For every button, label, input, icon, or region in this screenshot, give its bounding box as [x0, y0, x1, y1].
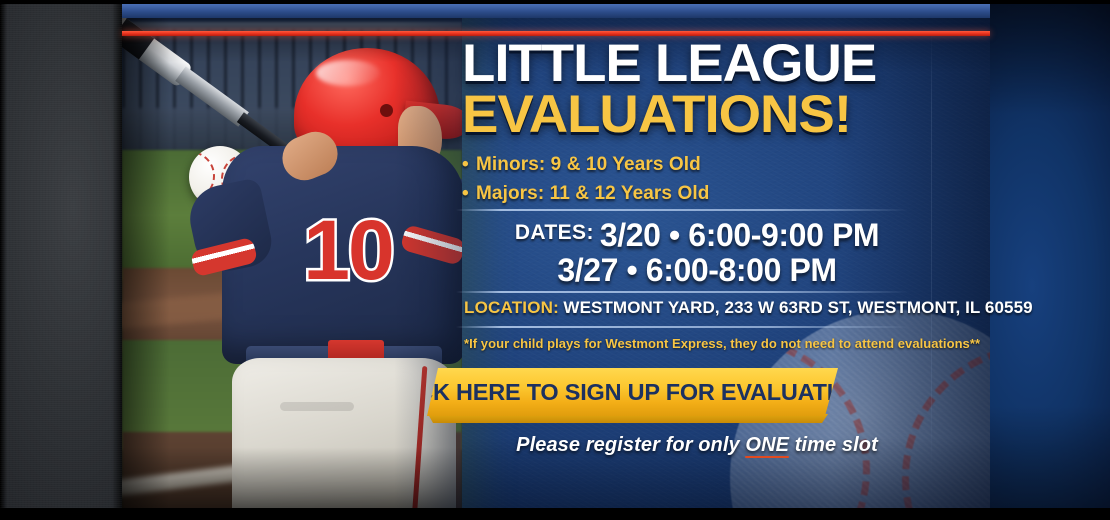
- top-blue-bar: [122, 4, 990, 18]
- list-item: •Minors: 9 & 10 Years Old: [462, 150, 942, 179]
- divider-below-location: [456, 326, 908, 328]
- list-item-label: Majors: 11 & 12 Years Old: [476, 183, 709, 204]
- dates-value-1: 3/20 • 6:00-9:00 PM: [600, 217, 879, 253]
- left-gutter-inner-edge: [112, 0, 122, 520]
- banner-content: LITTLE LEAGUE EVALUATIONS! •Minors: 9 & …: [462, 0, 1002, 520]
- bullet-dot-icon: •: [462, 150, 476, 179]
- list-item-label: Minors: 9 & 10 Years Old: [476, 154, 701, 175]
- dates-label: DATES:: [515, 221, 594, 244]
- signup-button[interactable]: CLICK HERE TO SIGN UP FOR EVALUATIONS: [424, 368, 838, 416]
- age-division-list: •Minors: 9 & 10 Years Old •Majors: 11 & …: [462, 150, 942, 209]
- baseball-player-photo: 10: [122, 0, 462, 520]
- dates-row-1: DATES:3/20 • 6:00-9:00 PM: [462, 218, 932, 253]
- location-value: WESTMONT YARD, 233 W 63RD ST, WESTMONT, …: [563, 298, 1032, 317]
- location-line: LOCATION: WESTMONT YARD, 233 W 63RD ST, …: [464, 298, 964, 318]
- register-note-emphasis: ONE: [745, 434, 789, 457]
- promo-banner: 10: [0, 0, 1110, 520]
- headline-block: LITTLE LEAGUE EVALUATIONS!: [462, 40, 962, 140]
- location-label: LOCATION:: [464, 298, 559, 317]
- dates-value-2: 3/27 • 6:00-8:00 PM: [557, 252, 836, 288]
- dates-block: DATES:3/20 • 6:00-9:00 PM 3/27 • 6:00-8:…: [462, 218, 932, 287]
- right-gutter: [990, 0, 1110, 520]
- left-gutter-edge: [0, 0, 7, 520]
- register-note-suffix: time slot: [789, 434, 878, 456]
- list-item: •Majors: 11 & 12 Years Old: [462, 179, 942, 208]
- register-note-text: Please register for only ONE time slot: [516, 434, 878, 457]
- headline-line-2: EVALUATIONS!: [462, 91, 977, 140]
- top-black-bar: [0, 0, 1110, 4]
- disclaimer-text: *If your child plays for Westmont Expres…: [464, 336, 964, 351]
- divider-above-dates: [456, 209, 908, 211]
- signup-cta-wrapper: CLICK HERE TO SIGN UP FOR EVALUATIONS: [424, 368, 854, 422]
- bottom-black-bar: [0, 508, 1110, 520]
- register-note-prefix: Please register for only: [516, 434, 745, 456]
- bullet-dot-icon: •: [462, 179, 476, 208]
- photo-vignette: [122, 0, 462, 520]
- divider-above-location: [456, 291, 908, 293]
- register-note: Please register for only ONE time slot: [462, 434, 932, 457]
- headline-line-1: LITTLE LEAGUE: [462, 40, 977, 89]
- signup-button-label: CLICK HERE TO SIGN UP FOR EVALUATIONS: [379, 379, 883, 406]
- left-gutter: [0, 0, 122, 520]
- top-red-accent-bar: [122, 31, 990, 36]
- dates-row-2: 3/27 • 6:00-8:00 PM: [462, 253, 932, 288]
